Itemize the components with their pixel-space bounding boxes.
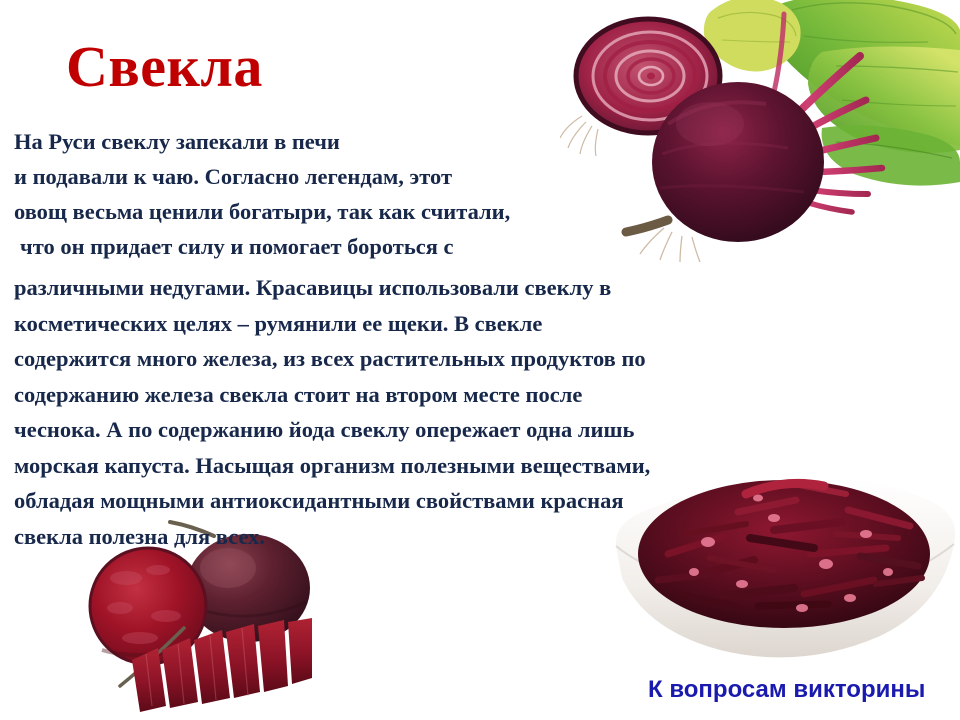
slide-canvas: Свекла На Руси свеклу запекали в печи и …	[0, 0, 960, 720]
paragraph-1: На Руси свеклу запекали в печи и подавал…	[14, 124, 814, 264]
paragraph-1-line: На Руси свеклу запекали в печи	[14, 124, 814, 159]
paragraph-2-line: обладая мощными антиоксидантными свойств…	[14, 483, 814, 519]
paragraph-2-line: содержится много железа, из всех растите…	[14, 341, 814, 377]
paragraph-2-line: различными недугами. Красавицы использов…	[14, 270, 814, 306]
quiz-questions-link[interactable]: К вопросам викторины	[648, 676, 925, 704]
body-text-block: На Руси свеклу запекали в печи и подавал…	[14, 124, 814, 554]
paragraph-2-line: косметических целях – румянили ее щеки. …	[14, 306, 814, 342]
page-title: Свекла	[66, 38, 263, 96]
paragraph-2-line: свекла полезна для всех.	[14, 519, 814, 555]
paragraph-2-line: содержанию железа свекла стоит на втором…	[14, 377, 814, 413]
paragraph-2-line: чеснока. А по содержанию йода свеклу опе…	[14, 412, 814, 448]
paragraph-2-line: морская капуста. Насыщая организм полезн…	[14, 448, 814, 484]
paragraph-1-line: и подавали к чаю. Согласно легендам, это…	[14, 159, 814, 194]
paragraph-1-line: что он придает силу и помогает бороться …	[14, 229, 814, 264]
paragraph-2: различными недугами. Красавицы использов…	[14, 270, 814, 554]
paragraph-1-line: овощ весьма ценили богатыри, так как счи…	[14, 194, 814, 229]
